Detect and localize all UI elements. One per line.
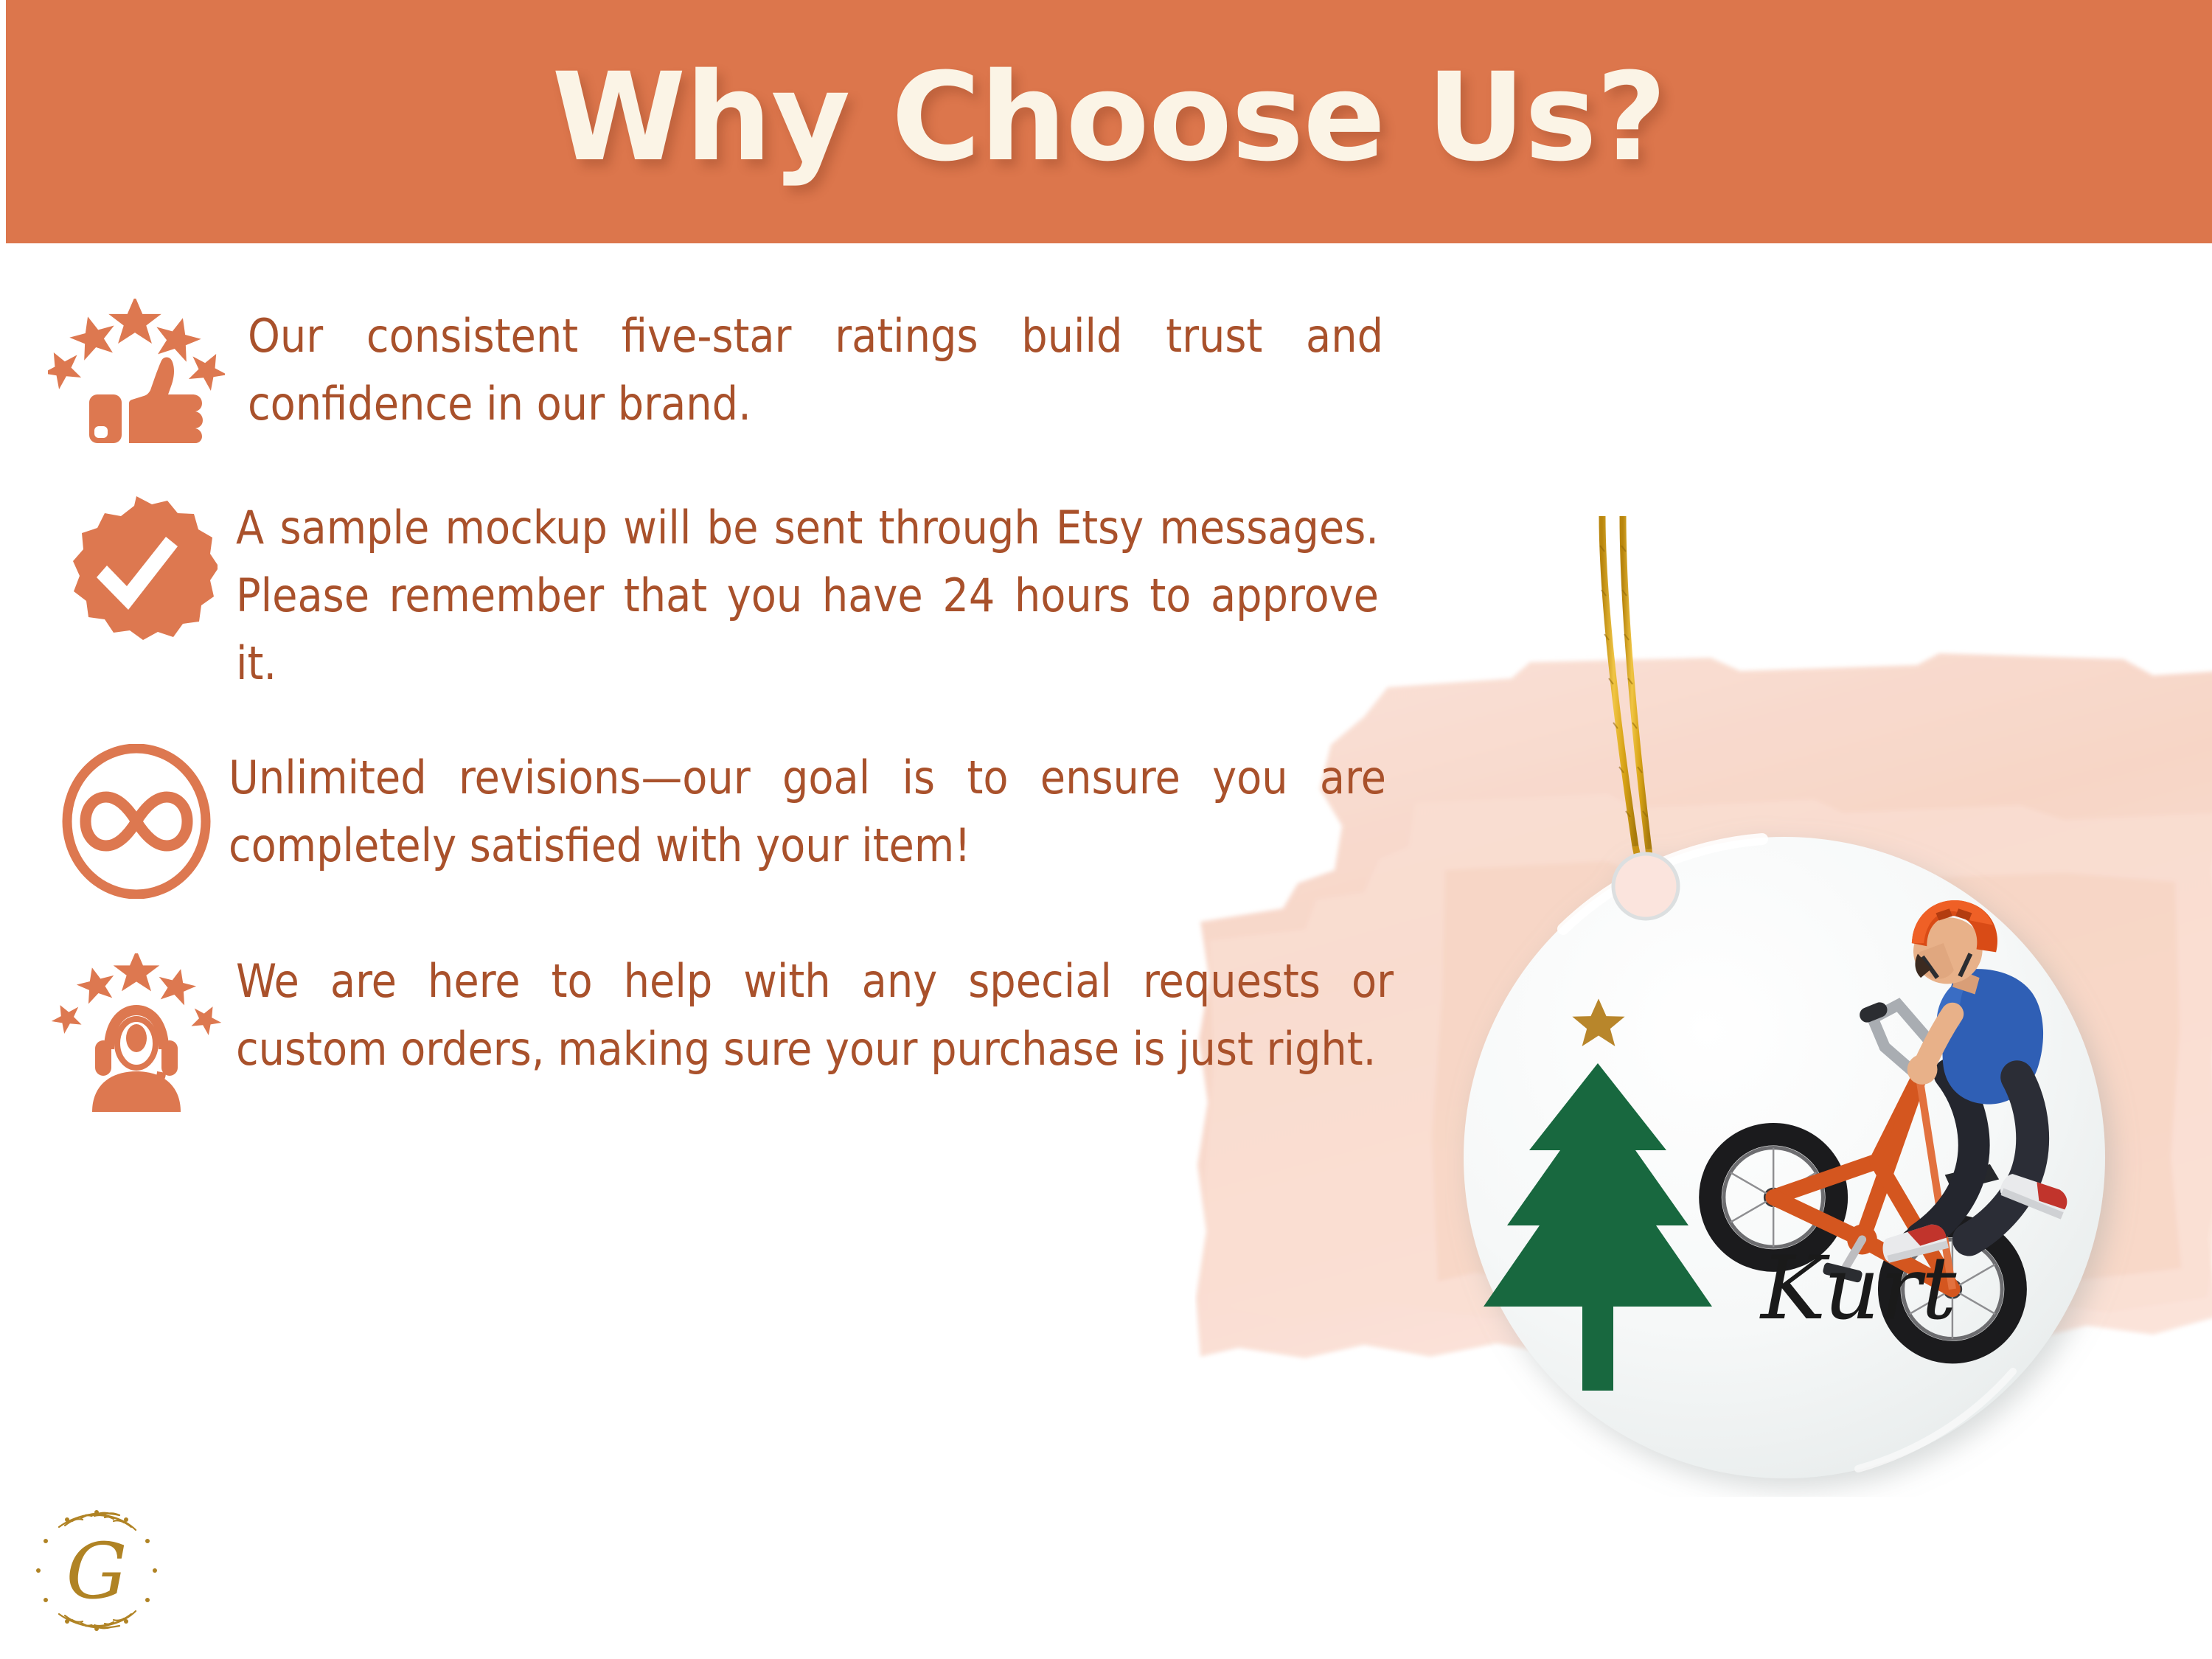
slide-canvas: Why Choose Us? <box>0 0 2212 1659</box>
list-item-text: Our consistent five-star ratings build t… <box>248 302 1398 438</box>
logo-letter: G <box>66 1526 127 1616</box>
thumbs-up-five-stars-icon <box>48 299 225 446</box>
gold-cord-hanger <box>1600 516 1649 882</box>
list-item-text: A sample mockup will be sent through Ets… <box>236 494 1394 697</box>
benefits-list: Our consistent five-star ratings build t… <box>0 302 1475 1141</box>
header-banner: Why Choose Us? <box>6 0 2212 243</box>
bullet-icon-slot <box>44 955 229 1110</box>
list-item-text: We are here to help with any special req… <box>236 947 1408 1083</box>
svg-text:G: G <box>66 1526 127 1616</box>
list-item: Our consistent five-star ratings build t… <box>0 302 1475 450</box>
list-item: A sample mockup will be sent through Ets… <box>0 494 1475 697</box>
g-monogram-wreath-logo: G <box>27 1500 167 1641</box>
product-ornament: Kurt <box>1445 516 2183 1497</box>
infinity-circle-icon <box>59 744 214 899</box>
signature-text: Kurt <box>1759 1237 1957 1339</box>
bullet-icon-slot <box>44 501 229 656</box>
list-item: Unlimited revisions—our goal is to ensur… <box>0 744 1475 899</box>
page-title: Why Choose Us? <box>552 57 1666 178</box>
support-agent-five-stars-icon <box>48 953 225 1112</box>
bullet-icon-slot <box>44 744 229 899</box>
personalized-name-signature: Kurt <box>1759 1237 1957 1339</box>
list-item-text: Unlimited revisions—our goal is to ensur… <box>229 744 1401 880</box>
verified-badge-check-icon <box>55 494 218 664</box>
bullet-icon-slot <box>44 295 229 450</box>
list-item: We are here to help with any special req… <box>0 947 1475 1110</box>
